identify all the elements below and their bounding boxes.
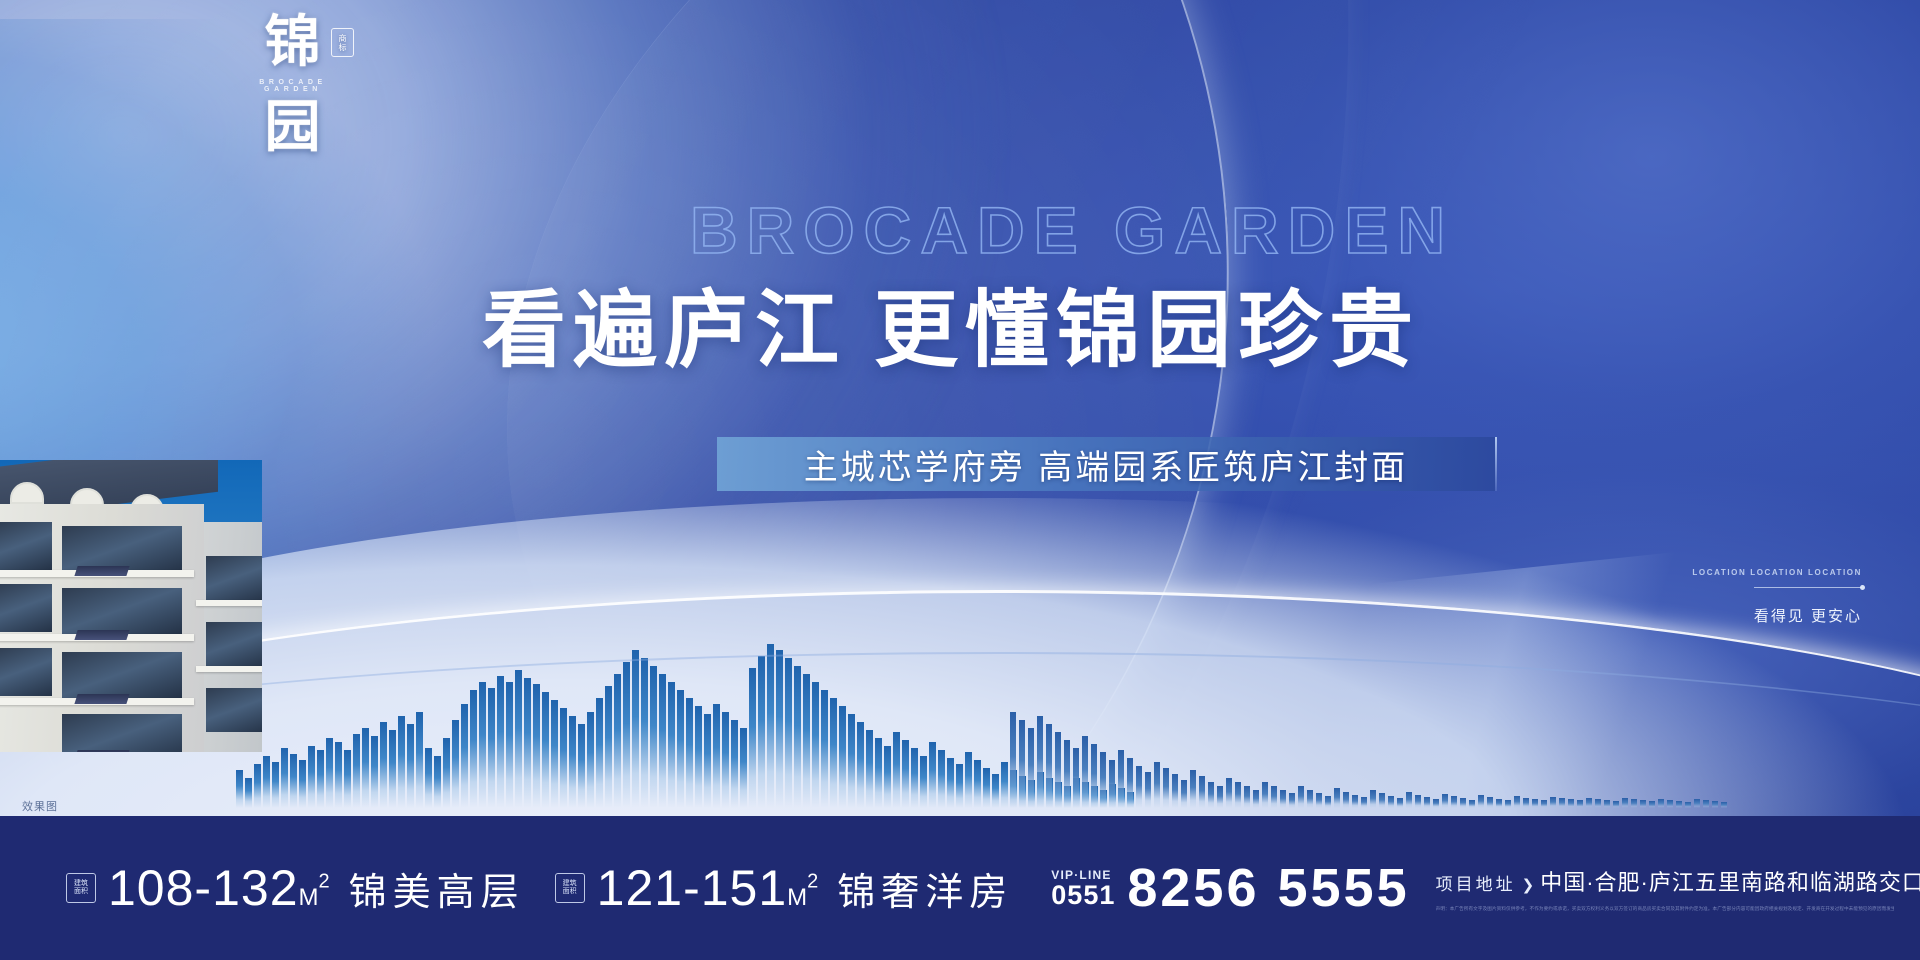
logo-char-yuan: 园 [238,99,348,157]
location-english-text: LOCATION LOCATION LOCATION [1692,568,1862,577]
building-window [62,588,182,634]
vip-line-area-code: 0551 [1051,882,1115,909]
building-window [206,556,262,600]
area-unit-1: M [299,884,319,911]
building-window [206,688,262,732]
logo-english-name: BROCADE GARDEN [238,79,348,93]
vip-line-block: VIP·LINE 0551 [1051,868,1115,909]
building-window [0,584,52,632]
area-chip-line1: 建筑 [74,880,88,888]
building-awning [74,750,129,752]
product-name-1: 锦美高层 [349,861,525,916]
building-awning [74,694,129,704]
sub-headline-banner: 主城芯学府旁 高端园系匠筑庐江封面 [717,437,1495,491]
area-chip-line1: 建筑 [563,880,577,888]
render-disclaimer-note: 效果图 [22,798,58,814]
poster-canvas: 锦 商 标 BROCADE GARDEN 园 BROCADE GARDEN 看遍… [0,0,1920,960]
logo-seal-line2: 标 [339,43,347,52]
building-ledge [196,666,262,672]
sales-phone-number[interactable]: 8256 5555 [1127,857,1409,919]
area-unit-sup-1: 2 [319,870,331,892]
building-window [62,714,182,752]
area-unit-2: M [787,884,807,911]
address-label: 项目地址 [1436,870,1516,895]
area-range-value-1: 108-132 [108,860,299,916]
building-awning [74,566,129,576]
building-window [0,522,52,570]
bottom-info-bar: 建筑 面积 108-132M2 锦美高层 建筑 面积 121-151M2 锦奢洋… [0,816,1920,960]
sub-headline-text: 主城芯学府旁 高端园系匠筑庐江封面 [804,440,1408,489]
brand-logo: 锦 商 标 BROCADE GARDEN 园 [238,14,348,164]
brocade-garden-outline-text: BROCADE GARDEN [690,196,1890,264]
legal-fineprint: 声明：本广告所有文字及图片资料仅供参考，不作为要约或承诺，买卖双方权利义务以双方… [1436,905,1894,912]
building-awning [74,630,129,640]
area-range-1: 108-132M2 [108,859,331,917]
building-window [0,648,52,696]
location-chinese-text: 看得见 更安心 [1582,605,1862,626]
area-chip: 建筑 面积 [66,873,96,903]
area-chip: 建筑 面积 [555,873,585,903]
area-chip-line2: 面积 [563,888,577,896]
location-rule-line [1754,587,1862,588]
address-value: 中国·合肥·庐江五里南路和临湖路交口 [1540,865,1920,897]
area-unit-sup-2: 2 [807,870,819,892]
sub-headline-banner-edge [1495,437,1497,491]
building-window [62,652,182,698]
product-name-2: 锦奢洋房 [837,861,1013,916]
building-window [206,622,262,666]
area-range-value-2: 121-151 [597,860,788,916]
area-chip-line2: 面积 [74,888,88,896]
logo-seal-stamp: 商 标 [331,28,354,57]
chevron-right-icon: ❯ [1522,876,1535,894]
area-range-2: 121-151M2 [597,859,820,917]
building-photo [0,460,262,752]
logo-seal-line1: 商 [339,34,347,43]
location-tagline: LOCATION LOCATION LOCATION 看得见 更安心 [1582,562,1862,626]
main-headline: 看遍庐江 更懂锦园珍贵 [482,284,1902,380]
building-ledge [196,600,262,606]
project-address-block: 项目地址 ❯ 中国·合肥·庐江五里南路和临湖路交口 声明：本广告所有文字及图片资… [1436,865,1894,912]
